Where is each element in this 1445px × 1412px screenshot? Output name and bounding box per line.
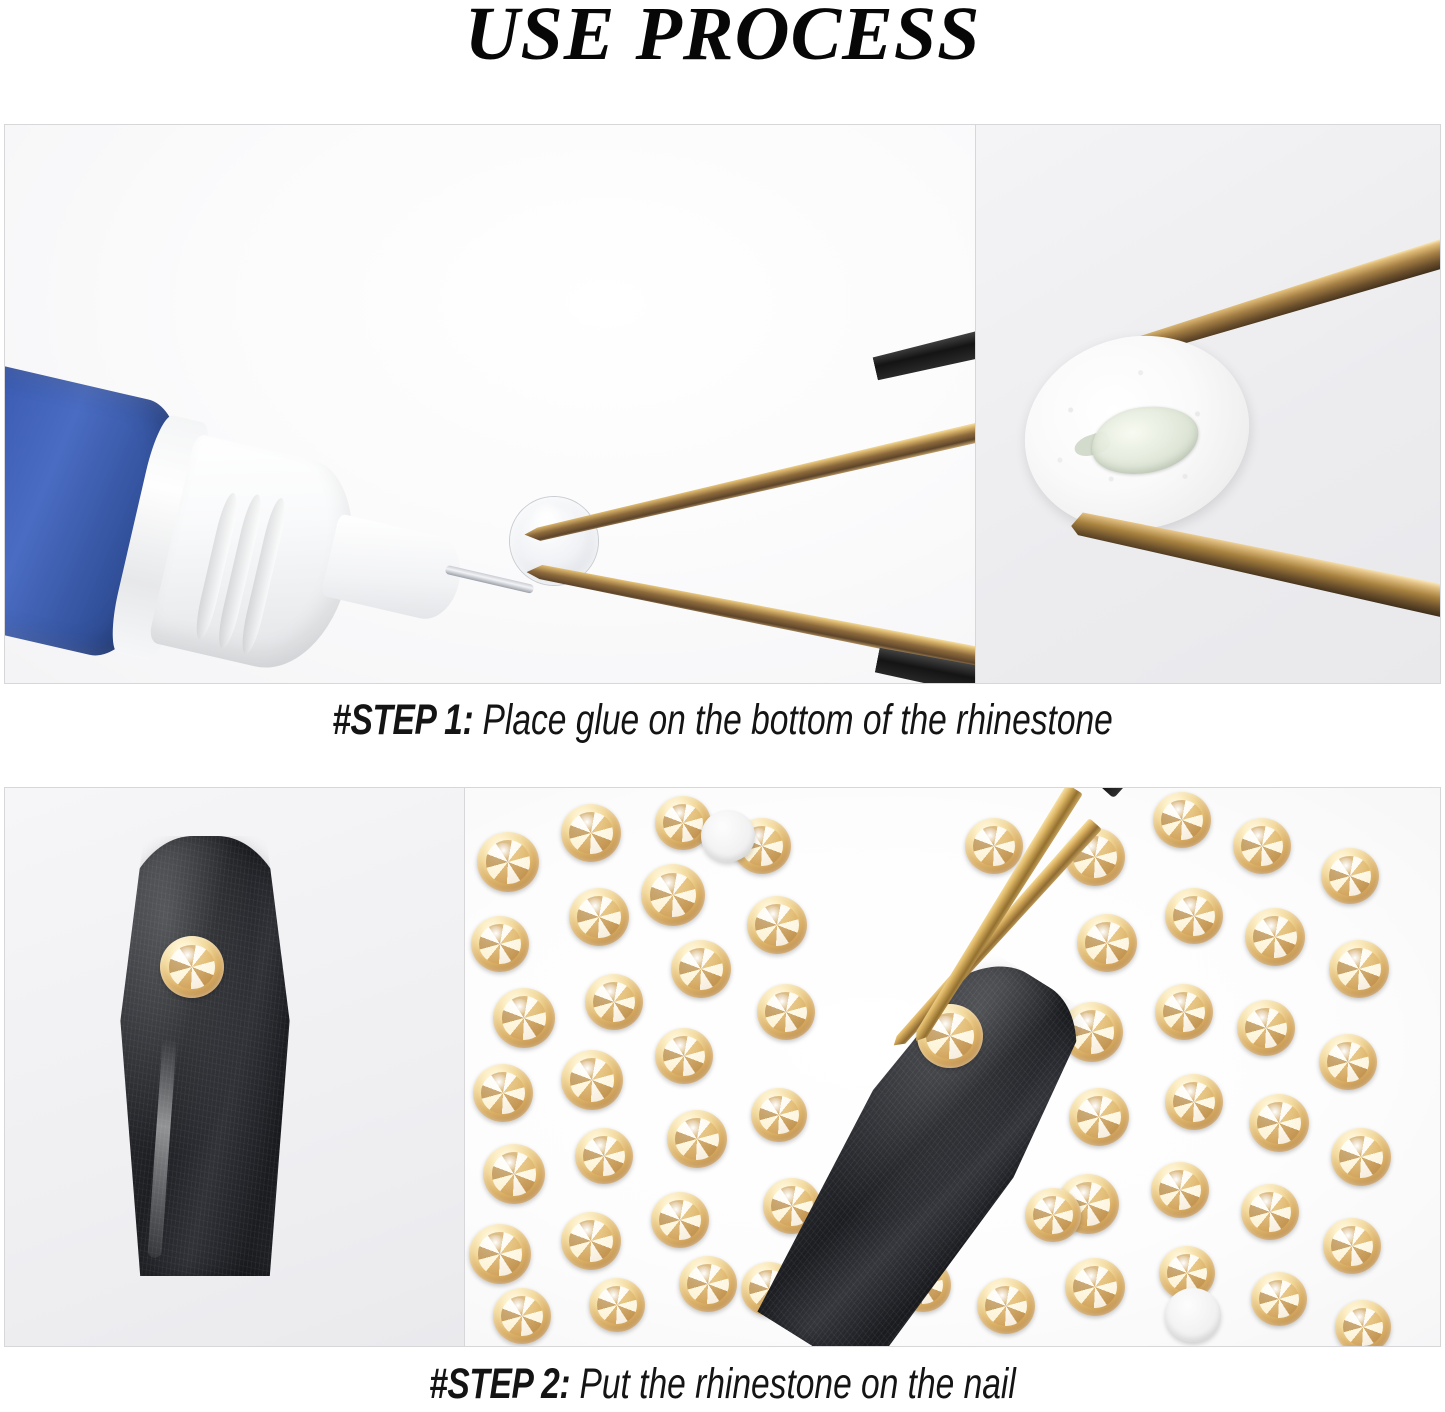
step-2-text: Put the rhinestone on the nail	[570, 1360, 1016, 1408]
rhinestone	[1237, 1000, 1295, 1056]
panel-finished-nail	[4, 787, 465, 1347]
rhinestone	[651, 1192, 709, 1248]
rhinestone	[1321, 848, 1379, 904]
applied-rhinestone	[160, 936, 224, 998]
step-1-label: #STEP 1:	[332, 696, 473, 744]
rhinestone	[977, 1278, 1035, 1334]
rhinestone	[469, 1224, 531, 1284]
rhinestone	[1249, 1094, 1309, 1152]
step-2-caption: #STEP 2: Put the rhinestone on the nail	[159, 1360, 1286, 1409]
rhinestone	[671, 940, 731, 998]
use-process-infographic: USE PROCESS	[0, 0, 1445, 1412]
rhinestone	[477, 832, 539, 892]
press-on-nail	[115, 836, 295, 1276]
rhinestone	[1151, 1162, 1209, 1218]
step-1-panel-row	[4, 124, 1441, 684]
rhinestone	[1245, 908, 1305, 966]
rhinestone	[1165, 888, 1223, 944]
rhinestone	[569, 888, 629, 946]
rhinestone	[1331, 1128, 1391, 1186]
rhinestone	[483, 1144, 545, 1204]
rhinestone	[1153, 792, 1211, 848]
rhinestone-flat-back	[701, 810, 755, 862]
rhinestone	[561, 804, 621, 862]
rhinestone	[1233, 818, 1291, 874]
rhinestone	[679, 1256, 737, 1312]
panel-applying-rhinestone	[465, 787, 1441, 1347]
rhinestone	[1165, 1074, 1223, 1130]
rhinestone	[757, 984, 815, 1040]
rhinestone-flat-back	[1165, 1288, 1221, 1342]
rhinestone	[655, 1028, 713, 1084]
step-2-label: #STEP 2:	[429, 1360, 570, 1408]
step-2-panel-row	[4, 787, 1441, 1347]
rhinestone	[1069, 1088, 1129, 1146]
rhinestone	[493, 1288, 551, 1344]
rhinestone	[1077, 914, 1137, 972]
rhinestone	[589, 1278, 645, 1332]
rhinestone	[473, 1064, 533, 1122]
rhinestone	[1319, 1034, 1377, 1090]
rhinestone	[641, 864, 705, 926]
panel-rhinestone-with-glue	[976, 124, 1441, 684]
rhinestone	[561, 1050, 623, 1110]
rhinestone	[561, 1212, 621, 1270]
rhinestone	[575, 1128, 633, 1184]
rhinestone	[493, 988, 555, 1048]
rhinestone	[1155, 984, 1213, 1040]
step-1-caption: #STEP 1: Place glue on the bottom of the…	[159, 696, 1286, 745]
panel-glue-bottle-and-tweezers	[4, 124, 976, 684]
rhinestone	[1335, 1300, 1391, 1347]
rhinestone	[1025, 1188, 1081, 1242]
rhinestone	[585, 974, 643, 1030]
rhinestone	[1065, 1258, 1125, 1316]
rhinestone	[1329, 940, 1389, 998]
rhinestone	[747, 896, 807, 954]
rhinestone	[1241, 1184, 1299, 1240]
rhinestone	[1323, 1218, 1381, 1274]
rhinestone	[751, 1088, 807, 1142]
rhinestone	[471, 916, 529, 972]
rhinestone	[667, 1110, 727, 1168]
rhinestone	[1251, 1272, 1307, 1326]
page-title: USE PROCESS	[0, 0, 1445, 72]
step-1-text: Place glue on the bottom of the rhinesto…	[473, 696, 1113, 744]
rhinestone	[965, 818, 1023, 874]
